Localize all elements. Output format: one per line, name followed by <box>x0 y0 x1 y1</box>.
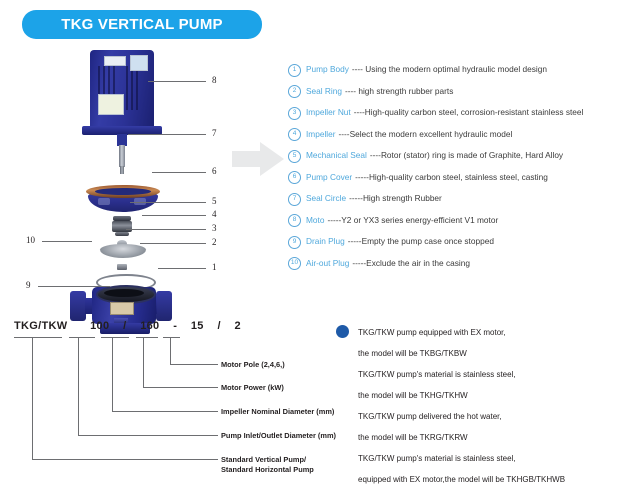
legend-part-desc: -----High strength Rubber <box>349 189 442 207</box>
callout-line-10 <box>42 241 92 242</box>
shaft-part <box>119 145 125 167</box>
legend-part-name: Seal Circle <box>306 189 346 207</box>
legend-item-2: 2 Seal Ring ---- high strength rubber pa… <box>288 82 614 100</box>
legend-number-icon: 1 <box>288 64 301 77</box>
code-drop-power <box>143 337 144 387</box>
model-variant-notes: TKG/TKW pump equipped with EX motor, the… <box>336 322 614 490</box>
callout-number-4: 4 <box>212 209 217 219</box>
mechanical-seal-part <box>112 221 132 232</box>
legend-number-icon: 8 <box>288 214 301 227</box>
code-drop-inlet <box>78 337 79 435</box>
code-run-inlet <box>78 435 218 436</box>
model-code-series: TKG/TKW <box>14 320 67 332</box>
code-underline-impeller <box>101 337 129 338</box>
model-code-slash-1: / <box>123 320 126 332</box>
model-code-row: TKG/TKW 100 / 160 - 15 / 2 <box>14 320 241 332</box>
code-underline-power <box>136 337 158 338</box>
note-line: the model will be TKBG/TKBW <box>336 343 614 364</box>
callout-number-3: 3 <box>212 223 217 233</box>
legend-item-4: 4 Impeller ----Select the modern excelle… <box>288 125 614 143</box>
legend-part-desc: ---- high strength rubber parts <box>345 82 453 100</box>
code-run-pole <box>170 364 218 365</box>
pump-cover-bore-part <box>95 188 151 195</box>
callout-line-4 <box>142 215 206 216</box>
callout-line-6 <box>152 172 206 173</box>
legend-part-desc: ---- Using the modern optimal hydraulic … <box>352 60 547 78</box>
code-label-impeller: Impeller Nominal Diameter (mm) <box>221 407 334 416</box>
legend-part-name: Impeller Nut <box>306 103 351 121</box>
callout-line-7 <box>128 134 206 135</box>
legend-number-icon: 5 <box>288 150 301 163</box>
note-line: the model will be TKHG/TKHW <box>336 385 614 406</box>
model-code-power: 15 <box>191 320 204 332</box>
legend-part-desc: ----Select the modern excellent hydrauli… <box>339 125 513 143</box>
model-code-pole: 2 <box>235 320 241 332</box>
code-drop-impeller <box>112 337 113 411</box>
callout-number-8: 8 <box>212 75 217 85</box>
legend-part-name: Pump Body <box>306 60 349 78</box>
code-run-impeller <box>112 411 218 412</box>
model-code-inlet: 100 <box>90 320 109 332</box>
legend-part-name: Mechanical Seal <box>306 146 367 164</box>
callout-number-5: 5 <box>212 196 217 206</box>
legend-part-name: Moto <box>306 211 324 229</box>
page-title-banner: TKG VERTICAL PUMP <box>22 10 262 39</box>
blue-dot-icon <box>336 325 349 338</box>
page-title: TKG VERTICAL PUMP <box>61 16 222 33</box>
legend-part-name: Impeller <box>306 125 336 143</box>
note-line: TKG/TKW pump's material is stainless ste… <box>336 448 614 469</box>
legend-item-1: 1 Pump Body ---- Using the modern optima… <box>288 60 614 78</box>
legend-part-desc: ----Rotor (stator) ring is made of Graph… <box>370 146 563 164</box>
legend-item-7: 7 Seal Circle -----High strength Rubber <box>288 189 614 207</box>
right-arrow-icon <box>232 140 284 178</box>
legend-number-icon: 6 <box>288 171 301 184</box>
legend-number-icon: 2 <box>288 85 301 98</box>
legend-number-icon: 3 <box>288 107 301 120</box>
code-label-power: Motor Power (kW) <box>221 383 284 392</box>
callout-number-9: 9 <box>26 280 31 290</box>
callout-line-1 <box>158 268 206 269</box>
callout-line-8 <box>148 81 206 82</box>
parts-legend-list: 1 Pump Body ---- Using the modern optima… <box>288 60 614 275</box>
callout-number-1: 1 <box>212 262 217 272</box>
model-code-dash: - <box>173 320 177 332</box>
impeller-nut-part <box>117 264 127 270</box>
code-label-inlet: Pump Inlet/Outlet Diameter (mm) <box>221 431 336 440</box>
callout-line-3 <box>126 229 206 230</box>
motor-part <box>90 50 154 128</box>
legend-item-3: 3 Impeller Nut ----High-quality carbon s… <box>288 103 614 121</box>
model-code-breakdown: TKG/TKW 100 / 160 - 15 / 2 Motor Pole (2… <box>0 312 320 500</box>
legend-part-desc: -----Y2 or YX3 series energy-efficient V… <box>327 211 498 229</box>
note-line: TKG/TKW pump's material is stainless ste… <box>336 364 614 385</box>
callout-line-2 <box>140 243 206 244</box>
code-label-standard-horizontal: Standard Horizontal Pump <box>221 465 314 475</box>
callout-line-5 <box>130 202 206 203</box>
code-underline-inlet <box>69 337 95 338</box>
note-line: TKG/TKW pump equipped with EX motor, <box>336 322 614 343</box>
legend-part-name: Seal Ring <box>306 82 342 100</box>
legend-item-5: 5 Mechanical Seal ----Rotor (stator) rin… <box>288 146 614 164</box>
legend-item-6: 6 Pump Cover -----High-quality carbon st… <box>288 168 614 186</box>
legend-part-desc: -----Empty the pump case once stopped <box>348 232 494 250</box>
code-drop-series <box>32 337 33 459</box>
legend-item-8: 8 Moto -----Y2 or YX3 series energy-effi… <box>288 211 614 229</box>
legend-item-10: 10 Air-out Plug -----Exclude the air in … <box>288 254 614 272</box>
legend-part-name: Air-out Plug <box>306 254 349 272</box>
code-label-pole: Motor Pole (2,4,6,) <box>221 360 285 369</box>
code-run-series <box>32 459 218 460</box>
legend-number-icon: 9 <box>288 236 301 249</box>
pump-body-bore-part <box>104 289 144 297</box>
code-underline-series <box>14 337 62 338</box>
code-label-standard-vertical: Standard Vertical Pump/ <box>221 455 306 465</box>
impeller-part <box>100 244 146 258</box>
legend-number-icon: 7 <box>288 193 301 206</box>
callout-number-7: 7 <box>212 128 217 138</box>
callout-number-10: 10 <box>26 235 35 245</box>
code-drop-pole <box>170 337 171 364</box>
legend-part-desc: ----High-quality carbon steel, corrosion… <box>354 103 584 121</box>
note-line: equipped with EX motor,the model will be… <box>336 469 614 490</box>
model-code-slash-2: / <box>217 320 220 332</box>
legend-part-desc: -----Exclude the air in the casing <box>352 254 470 272</box>
callout-number-2: 2 <box>212 237 217 247</box>
callout-line-9 <box>38 286 110 287</box>
shaft-tip-part <box>120 166 124 174</box>
legend-item-9: 9 Drain Plug -----Empty the pump case on… <box>288 232 614 250</box>
legend-number-icon: 4 <box>288 128 301 141</box>
mechanical-seal-base-part <box>115 232 129 236</box>
legend-part-desc: -----High-quality carbon steel, stainles… <box>355 168 548 186</box>
legend-number-icon: 10 <box>288 257 301 270</box>
note-line: TKG/TKW pump delivered the hot water, <box>336 406 614 427</box>
callout-number-6: 6 <box>212 166 217 176</box>
legend-part-name: Drain Plug <box>306 232 345 250</box>
legend-part-name: Pump Cover <box>306 168 352 186</box>
note-line: the model will be TKRG/TKRW <box>336 427 614 448</box>
model-code-impeller: 160 <box>140 320 159 332</box>
code-underline-pole <box>163 337 180 338</box>
code-run-power <box>143 387 218 388</box>
